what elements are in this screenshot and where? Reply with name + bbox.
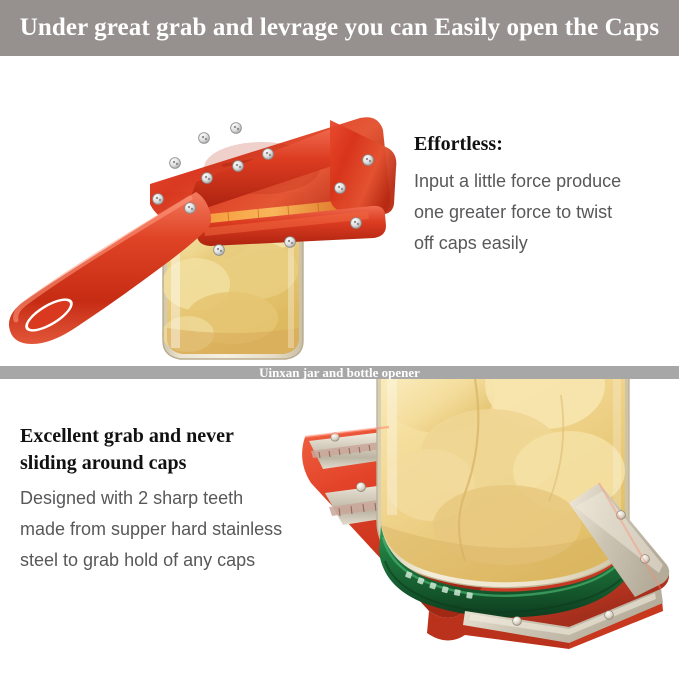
top-body-line-2: one greater force to twist — [414, 202, 612, 222]
bottom-feature-heading: Excellent grab and never sliding around … — [20, 423, 330, 477]
bottom-feature-panel: Excellent grab and never sliding around … — [0, 379, 679, 674]
top-feature-text: Effortless: Input a little force produce… — [414, 132, 676, 259]
top-feature-panel: Effortless: Input a little force produce… — [0, 56, 679, 366]
bottom-heading-line-1: Excellent grab and never — [20, 425, 234, 447]
bottom-heading-line-2: sliding around caps — [20, 452, 186, 474]
top-feature-body: Input a little force produce one greater… — [414, 166, 676, 259]
top-body-line-3: off caps easily — [414, 233, 528, 253]
page-title: Under great grab and levrage you can Eas… — [0, 0, 679, 56]
bottom-feature-body: Designed with 2 sharp teeth made from su… — [20, 483, 330, 576]
bottom-body-line-1: Designed with 2 sharp teeth — [20, 488, 243, 508]
bottom-body-line-3: steel to grab hold of any caps — [20, 550, 255, 570]
header-banner: Under great grab and levrage you can Eas… — [0, 0, 679, 56]
product-photo-bottom — [269, 379, 679, 674]
bottom-body-line-2: made from supper hard stainless — [20, 519, 282, 539]
bottom-feature-text: Excellent grab and never sliding around … — [20, 423, 330, 576]
top-body-line-1: Input a little force produce — [414, 171, 621, 191]
product-photo-top — [0, 56, 410, 366]
top-feature-heading: Effortless: — [414, 132, 676, 157]
